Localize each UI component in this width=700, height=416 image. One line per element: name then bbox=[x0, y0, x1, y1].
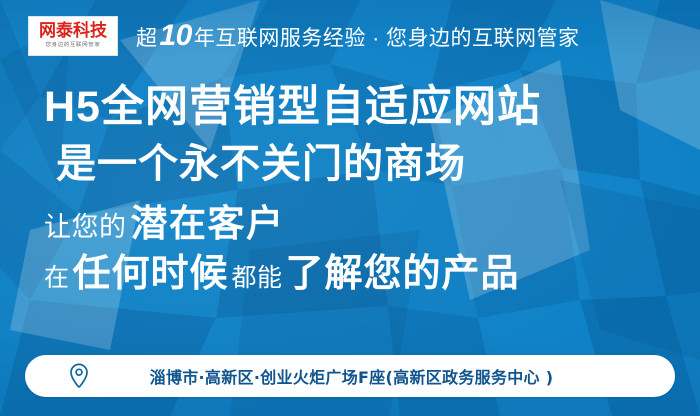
headline-line-3: 让您的 潜在客户 bbox=[0, 205, 700, 242]
tagline-years-number: 10 bbox=[158, 21, 194, 51]
tagline-prefix: 超 bbox=[136, 28, 158, 49]
logo-tagline: 您身边的互联网管家 bbox=[46, 44, 101, 49]
address-bar: 淄博市·高新区·创业火炬广场F座(高新区政务服务中心 ) bbox=[25, 355, 675, 397]
banner-header: 网泰科技 您身边的互联网管家 超 10 年互联网服务经验 · 您身边的互联网管家 bbox=[0, 0, 700, 72]
headline-line-4-big-2: 了解您的产品 bbox=[283, 255, 523, 293]
promo-banner: 网泰科技 您身边的互联网管家 超 10 年互联网服务经验 · 您身边的互联网管家… bbox=[0, 0, 700, 416]
headline-line-4: 在 任何时候 都能 了解您的产品 bbox=[0, 255, 700, 293]
logo-company-name: 网泰科技 bbox=[39, 23, 107, 40]
location-pin-icon bbox=[68, 363, 90, 389]
headline-line-3-light: 让您的 bbox=[44, 214, 127, 241]
headline-line-4-small-1: 在 bbox=[44, 266, 70, 291]
headline-line-3-bold: 潜在客户 bbox=[127, 205, 285, 242]
headline-line-2: 是一个永不关门的商场 bbox=[0, 144, 700, 184]
tagline-suffix: 年互联网服务经验 · 您身边的互联网管家 bbox=[194, 28, 580, 49]
header-tagline: 超 10 年互联网服务经验 · 您身边的互联网管家 bbox=[136, 21, 580, 51]
headline-line-1: H5全网营销型自适应网站 bbox=[0, 86, 700, 129]
headline-line-4-small-2: 都能 bbox=[232, 266, 283, 291]
headline-line-4-big-1: 任何时候 bbox=[70, 255, 232, 293]
address-text: 淄博市·高新区·创业火炬广场F座(高新区政务服务中心 ) bbox=[90, 364, 675, 388]
headline-block: H5全网营销型自适应网站 是一个永不关门的商场 让您的 潜在客户 在 任何时候 … bbox=[0, 86, 700, 293]
company-logo: 网泰科技 您身边的互联网管家 bbox=[28, 16, 118, 56]
